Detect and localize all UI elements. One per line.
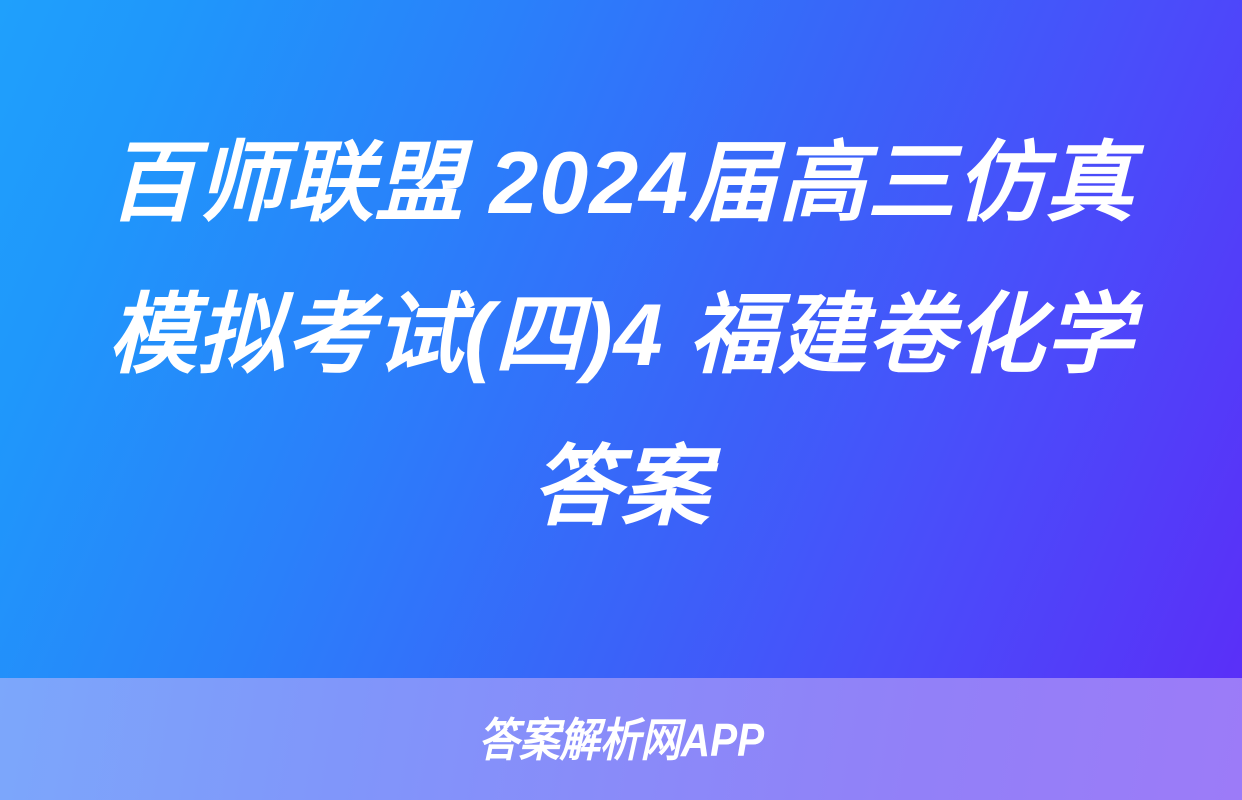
hero-banner: 百师联盟 2024届高三仿真模拟考试(四)4 福建卷化学答案 xyxy=(0,0,1242,678)
app-watermark-text: 答案解析网APP xyxy=(478,714,764,766)
poster-container: 百师联盟 2024届高三仿真模拟考试(四)4 福建卷化学答案 答案解析网APP xyxy=(0,0,1242,800)
watermark-band: 答案解析网APP xyxy=(0,678,1242,800)
page-title: 百师联盟 2024届高三仿真模拟考试(四)4 福建卷化学答案 xyxy=(66,107,1176,563)
